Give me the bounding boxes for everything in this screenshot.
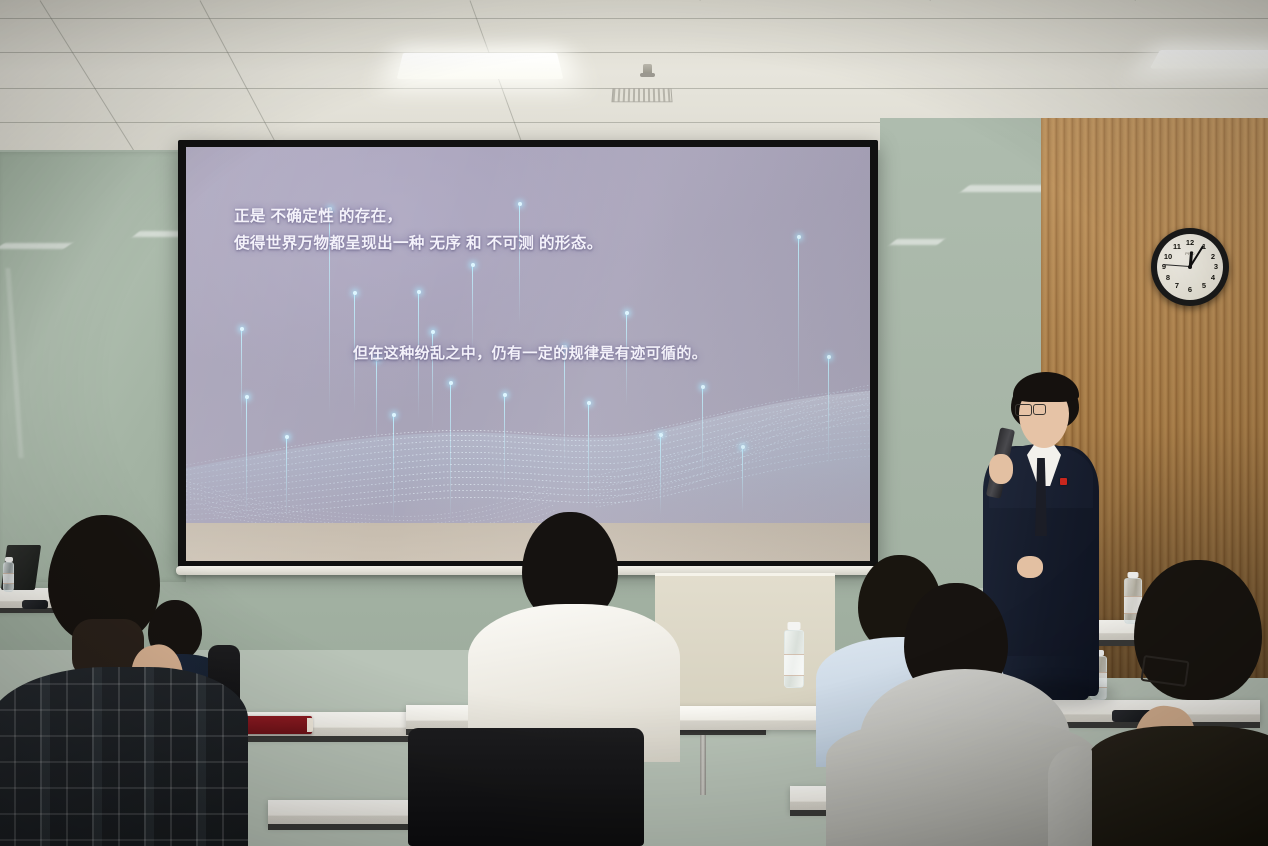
presenter-lapel-pin bbox=[1060, 478, 1067, 485]
glass-reflection bbox=[961, 185, 1052, 192]
glass-reflection bbox=[889, 239, 944, 245]
attendee-white-shirt bbox=[470, 512, 700, 762]
bottle-cap bbox=[788, 622, 801, 630]
clock-number-8: 8 bbox=[1163, 273, 1173, 283]
attendee-glasses bbox=[1140, 655, 1189, 687]
attendee-plaid-shirt bbox=[10, 515, 260, 846]
slide-text-line-1: 正是 不确定性 的存在， bbox=[234, 204, 402, 226]
clock-number-4: 4 bbox=[1208, 273, 1218, 283]
fire-sprinkler-icon bbox=[643, 64, 652, 77]
clock-number-3: 3 bbox=[1211, 262, 1221, 272]
glass-reflection bbox=[0, 243, 72, 249]
attendee-shoulder-edge bbox=[1048, 746, 1092, 846]
bottle-label bbox=[784, 654, 804, 676]
wave-mesh-svg bbox=[186, 373, 870, 523]
slide-text-line-3: 但在这种纷乱之中，仍有一定的规律是有迹可循的。 bbox=[353, 342, 707, 363]
clock-number-2: 2 bbox=[1208, 252, 1218, 262]
particle-streak bbox=[519, 204, 520, 324]
hvac-vent bbox=[611, 88, 672, 102]
slide-text-line-2: 使得世界万物都呈现出一种 无序 和 不可测 的形态。 bbox=[234, 231, 603, 253]
attendee-dark-shirt bbox=[1090, 560, 1268, 846]
clock-number-10: 10 bbox=[1163, 252, 1173, 262]
projection-screen-frame: 正是 不确定性 的存在， 使得世界万物都呈现出一种 无序 和 不可测 的形态。 … bbox=[178, 140, 878, 570]
notebook-pages bbox=[307, 718, 313, 732]
presenter-glasses bbox=[1015, 404, 1032, 416]
clock-center-pin bbox=[1188, 265, 1192, 269]
presenter-glasses bbox=[1033, 404, 1046, 415]
wall-clock: PRO 12 1 2 3 4 5 6 7 8 9 10 11 bbox=[1151, 228, 1229, 306]
wave-mesh-graphic bbox=[186, 373, 870, 523]
presentation-slide: 正是 不确定性 的存在， 使得世界万物都呈现出一种 无序 和 不可测 的形态。 … bbox=[186, 147, 870, 523]
attendee-dark-torso bbox=[1086, 726, 1268, 846]
presenter-hand-lower bbox=[1017, 556, 1043, 578]
clock-face: PRO 12 1 2 3 4 5 6 7 8 9 10 11 bbox=[1157, 234, 1223, 300]
screenshot-root: PRO 12 1 2 3 4 5 6 7 8 9 10 11 bbox=[0, 0, 1268, 846]
led-panel-light bbox=[1150, 50, 1268, 68]
attendee-plaid-torso bbox=[0, 667, 248, 846]
clock-number-11: 11 bbox=[1172, 242, 1182, 252]
water-bottle bbox=[784, 630, 804, 688]
presenter-hand-holding-mic bbox=[989, 454, 1013, 484]
chair-back bbox=[408, 728, 644, 846]
desk-leg bbox=[700, 735, 706, 795]
particle-streak bbox=[472, 265, 473, 351]
clock-number-12: 12 bbox=[1185, 238, 1195, 248]
clock-number-7: 7 bbox=[1172, 281, 1182, 291]
projection-screen: 正是 不确定性 的存在， 使得世界万物都呈现出一种 无序 和 不可测 的形态。 … bbox=[186, 147, 870, 561]
presenter-hair-fringe bbox=[1013, 372, 1079, 402]
clock-number-6: 6 bbox=[1185, 285, 1195, 295]
led-panel-light bbox=[397, 53, 563, 79]
clock-number-5: 5 bbox=[1199, 281, 1209, 291]
